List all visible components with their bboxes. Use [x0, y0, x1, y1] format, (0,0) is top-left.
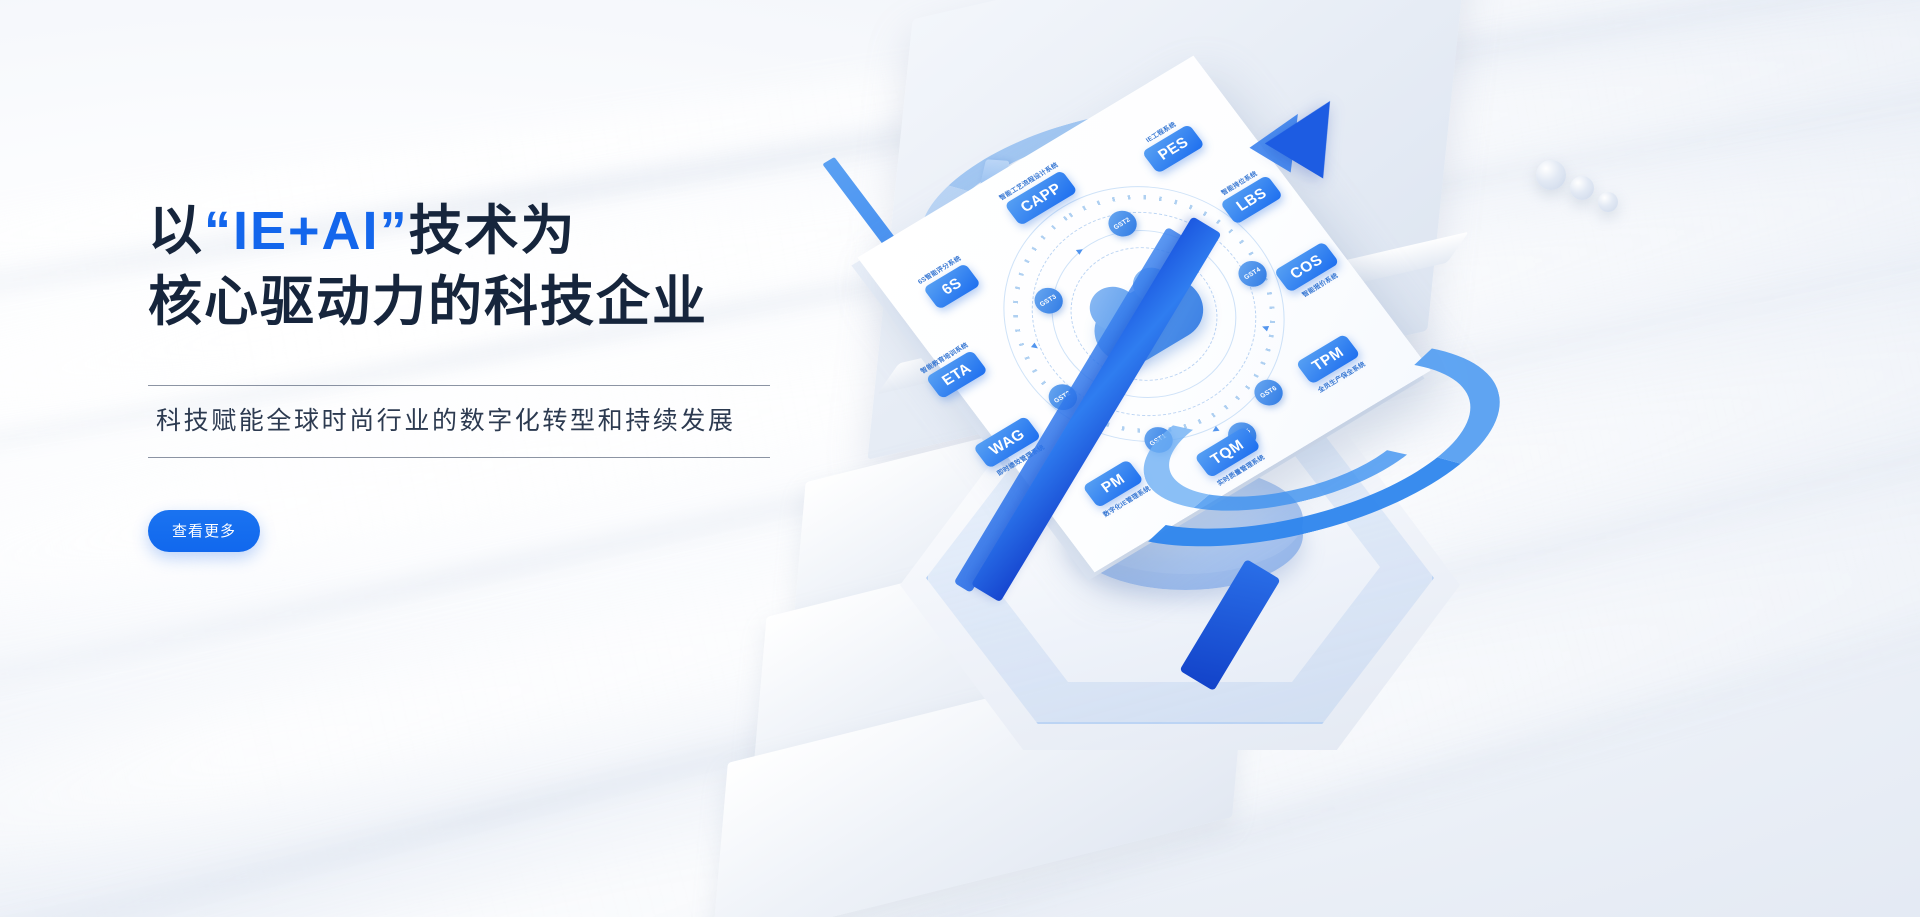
view-more-button[interactable]: 查看更多 — [148, 510, 260, 552]
hero-illustration: GST2 GST3 GST2 GST1 GST6 GST4 GST5 IE智能化 — [830, 0, 1920, 917]
module-pes: IE工程系统 PES — [1132, 111, 1205, 174]
hero-banner: 以“IE+AI”技术为 核心驱动力的科技企业 科技赋能全球时尚行业的数字化转型和… — [0, 0, 1920, 917]
divider-bottom — [148, 457, 770, 458]
headline-accent: IE+AI — [233, 201, 380, 261]
decor-sphere-2 — [1570, 176, 1594, 200]
headline-suffix: 技术为 — [409, 201, 577, 261]
subtitle-block: 科技赋能全球时尚行业的数字化转型和持续发展 — [148, 385, 848, 458]
hero-copy: 以“IE+AI”技术为 核心驱动力的科技企业 科技赋能全球时尚行业的数字化转型和… — [148, 196, 848, 552]
headline-prefix: 以 — [148, 201, 204, 261]
decor-sphere-1 — [1536, 160, 1566, 190]
quote-open: “ — [204, 201, 233, 261]
headline-line-2: 核心驱动力的科技企业 — [148, 267, 848, 338]
module-6s: 6S智能评分系统 6S — [913, 250, 981, 310]
decor-sphere-3 — [1598, 192, 1618, 212]
hero-subtitle: 科技赋能全球时尚行业的数字化转型和持续发展 — [148, 386, 848, 457]
divider-top — [148, 385, 770, 386]
quote-close: ” — [380, 201, 409, 261]
module-cos: COS 智能报价系统 — [1274, 241, 1349, 305]
page-title: 以“IE+AI”技术为 核心驱动力的科技企业 — [148, 196, 848, 339]
